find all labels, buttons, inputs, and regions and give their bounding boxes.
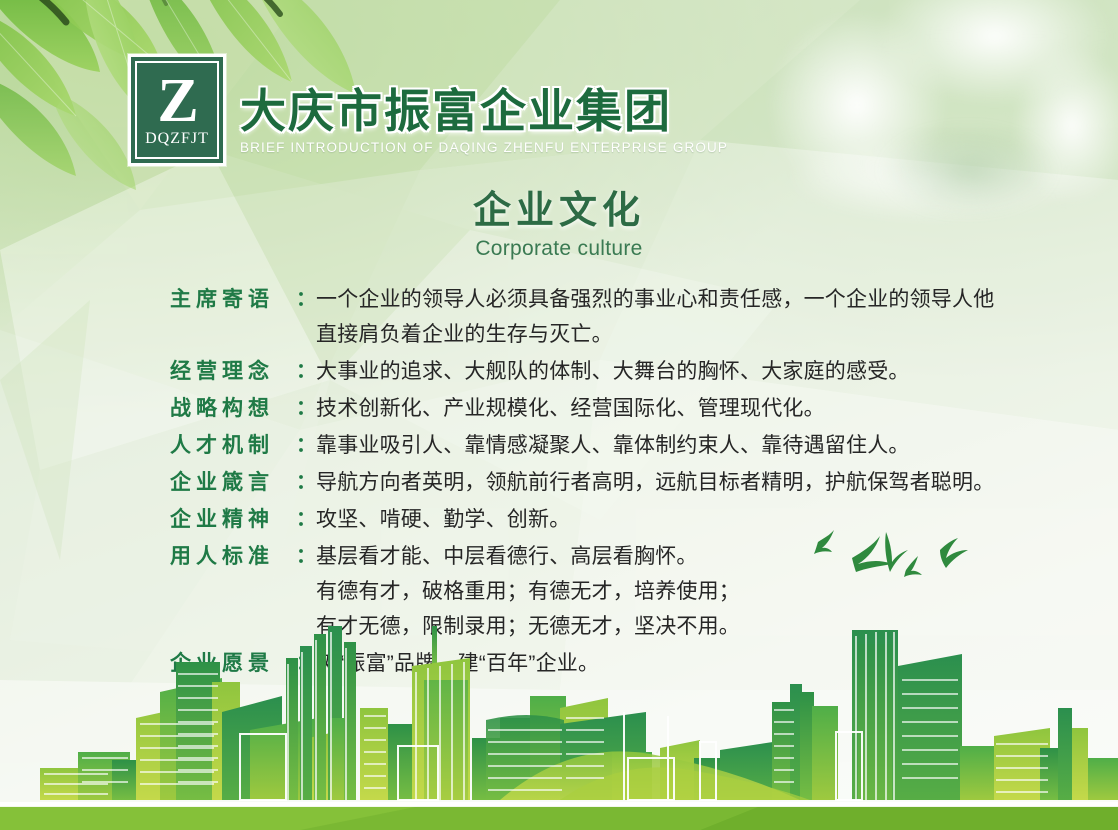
- culture-row: 经营理念：大事业的追求、大舰队的体制、大舞台的胸怀、大家庭的感受。: [170, 354, 1000, 389]
- culture-row: 人才机制：靠事业吸引人、靠情感凝聚人、靠体制约束人、靠待遇留住人。: [170, 428, 1000, 463]
- culture-row-label: 战略构想: [170, 391, 296, 426]
- culture-row-colon: ：: [296, 282, 316, 317]
- culture-row-colon: ：: [296, 428, 316, 463]
- culture-row-label: 人才机制: [170, 428, 296, 463]
- culture-row-label: 主席寄语: [170, 282, 296, 317]
- culture-row: 主席寄语：一个企业的领导人必须具备强烈的事业心和责任感，一个企业的领导人他直接肩…: [170, 282, 1000, 352]
- culture-row-line: 导航方向者英明，领航前行者高明，远航目标者精明，护航保驾者聪明。: [316, 465, 1000, 500]
- company-name-en: BRIEF INTRODUCTION OF DAQING ZHENFU ENTE…: [240, 140, 728, 155]
- culture-row-colon: ：: [296, 391, 316, 426]
- culture-row-colon: ：: [296, 502, 316, 537]
- culture-row-line: 靠事业吸引人、靠情感凝聚人、靠体制约束人、靠待遇留住人。: [316, 428, 1000, 463]
- section-title-cn: 企业文化: [0, 190, 1118, 234]
- culture-row-body: 技术创新化、产业规模化、经营国际化、管理现代化。: [316, 391, 1000, 426]
- logo-abbreviation: DQZFJT: [145, 130, 209, 148]
- logo-letter-z: Z: [157, 74, 196, 129]
- culture-row: 企业箴言：导航方向者英明，领航前行者高明，远航目标者精明，护航保驾者聪明。: [170, 465, 1000, 500]
- section-title-en: Corporate culture: [0, 237, 1118, 261]
- company-logo: Z DQZFJT: [128, 54, 226, 166]
- culture-row-body: 靠事业吸引人、靠情感凝聚人、靠体制约束人、靠待遇留住人。: [316, 428, 1000, 463]
- city-skyline-illustration: [0, 600, 1118, 830]
- culture-row-colon: ：: [296, 539, 316, 574]
- culture-row-body: 一个企业的领导人必须具备强烈的事业心和责任感，一个企业的领导人他直接肩负着企业的…: [316, 282, 1000, 352]
- company-name-cn: 大庆市振富企业集团: [240, 88, 728, 134]
- birds-decoration: [800, 520, 990, 600]
- culture-row-line: 一个企业的领导人必须具备强烈的事业心和责任感，一个企业的领导人他: [316, 282, 1000, 317]
- culture-row-colon: ：: [296, 465, 316, 500]
- brand-text-block: 大庆市振富企业集团 BRIEF INTRODUCTION OF DAQING Z…: [240, 54, 728, 155]
- culture-row-line: 技术创新化、产业规模化、经营国际化、管理现代化。: [316, 391, 1000, 426]
- culture-row-label: 用人标准: [170, 539, 296, 574]
- culture-row-label: 企业精神: [170, 502, 296, 537]
- brand-header: Z DQZFJT 大庆市振富企业集团 BRIEF INTRODUCTION OF…: [128, 54, 728, 166]
- culture-row: 战略构想：技术创新化、产业规模化、经营国际化、管理现代化。: [170, 391, 1000, 426]
- culture-row-label: 企业箴言: [170, 465, 296, 500]
- poster-canvas: Z DQZFJT 大庆市振富企业集团 BRIEF INTRODUCTION OF…: [0, 0, 1118, 830]
- section-title-block: 企业文化 Corporate culture: [0, 190, 1118, 261]
- culture-row-body: 导航方向者英明，领航前行者高明，远航目标者精明，护航保驾者聪明。: [316, 465, 1000, 500]
- culture-row-line: 直接肩负着企业的生存与灭亡。: [316, 317, 1000, 352]
- culture-row-line: 大事业的追求、大舰队的体制、大舞台的胸怀、大家庭的感受。: [316, 354, 1000, 389]
- logo-inner-frame: Z DQZFJT: [135, 61, 219, 159]
- culture-row-body: 大事业的追求、大舰队的体制、大舞台的胸怀、大家庭的感受。: [316, 354, 1000, 389]
- culture-row-colon: ：: [296, 354, 316, 389]
- culture-row-label: 经营理念: [170, 354, 296, 389]
